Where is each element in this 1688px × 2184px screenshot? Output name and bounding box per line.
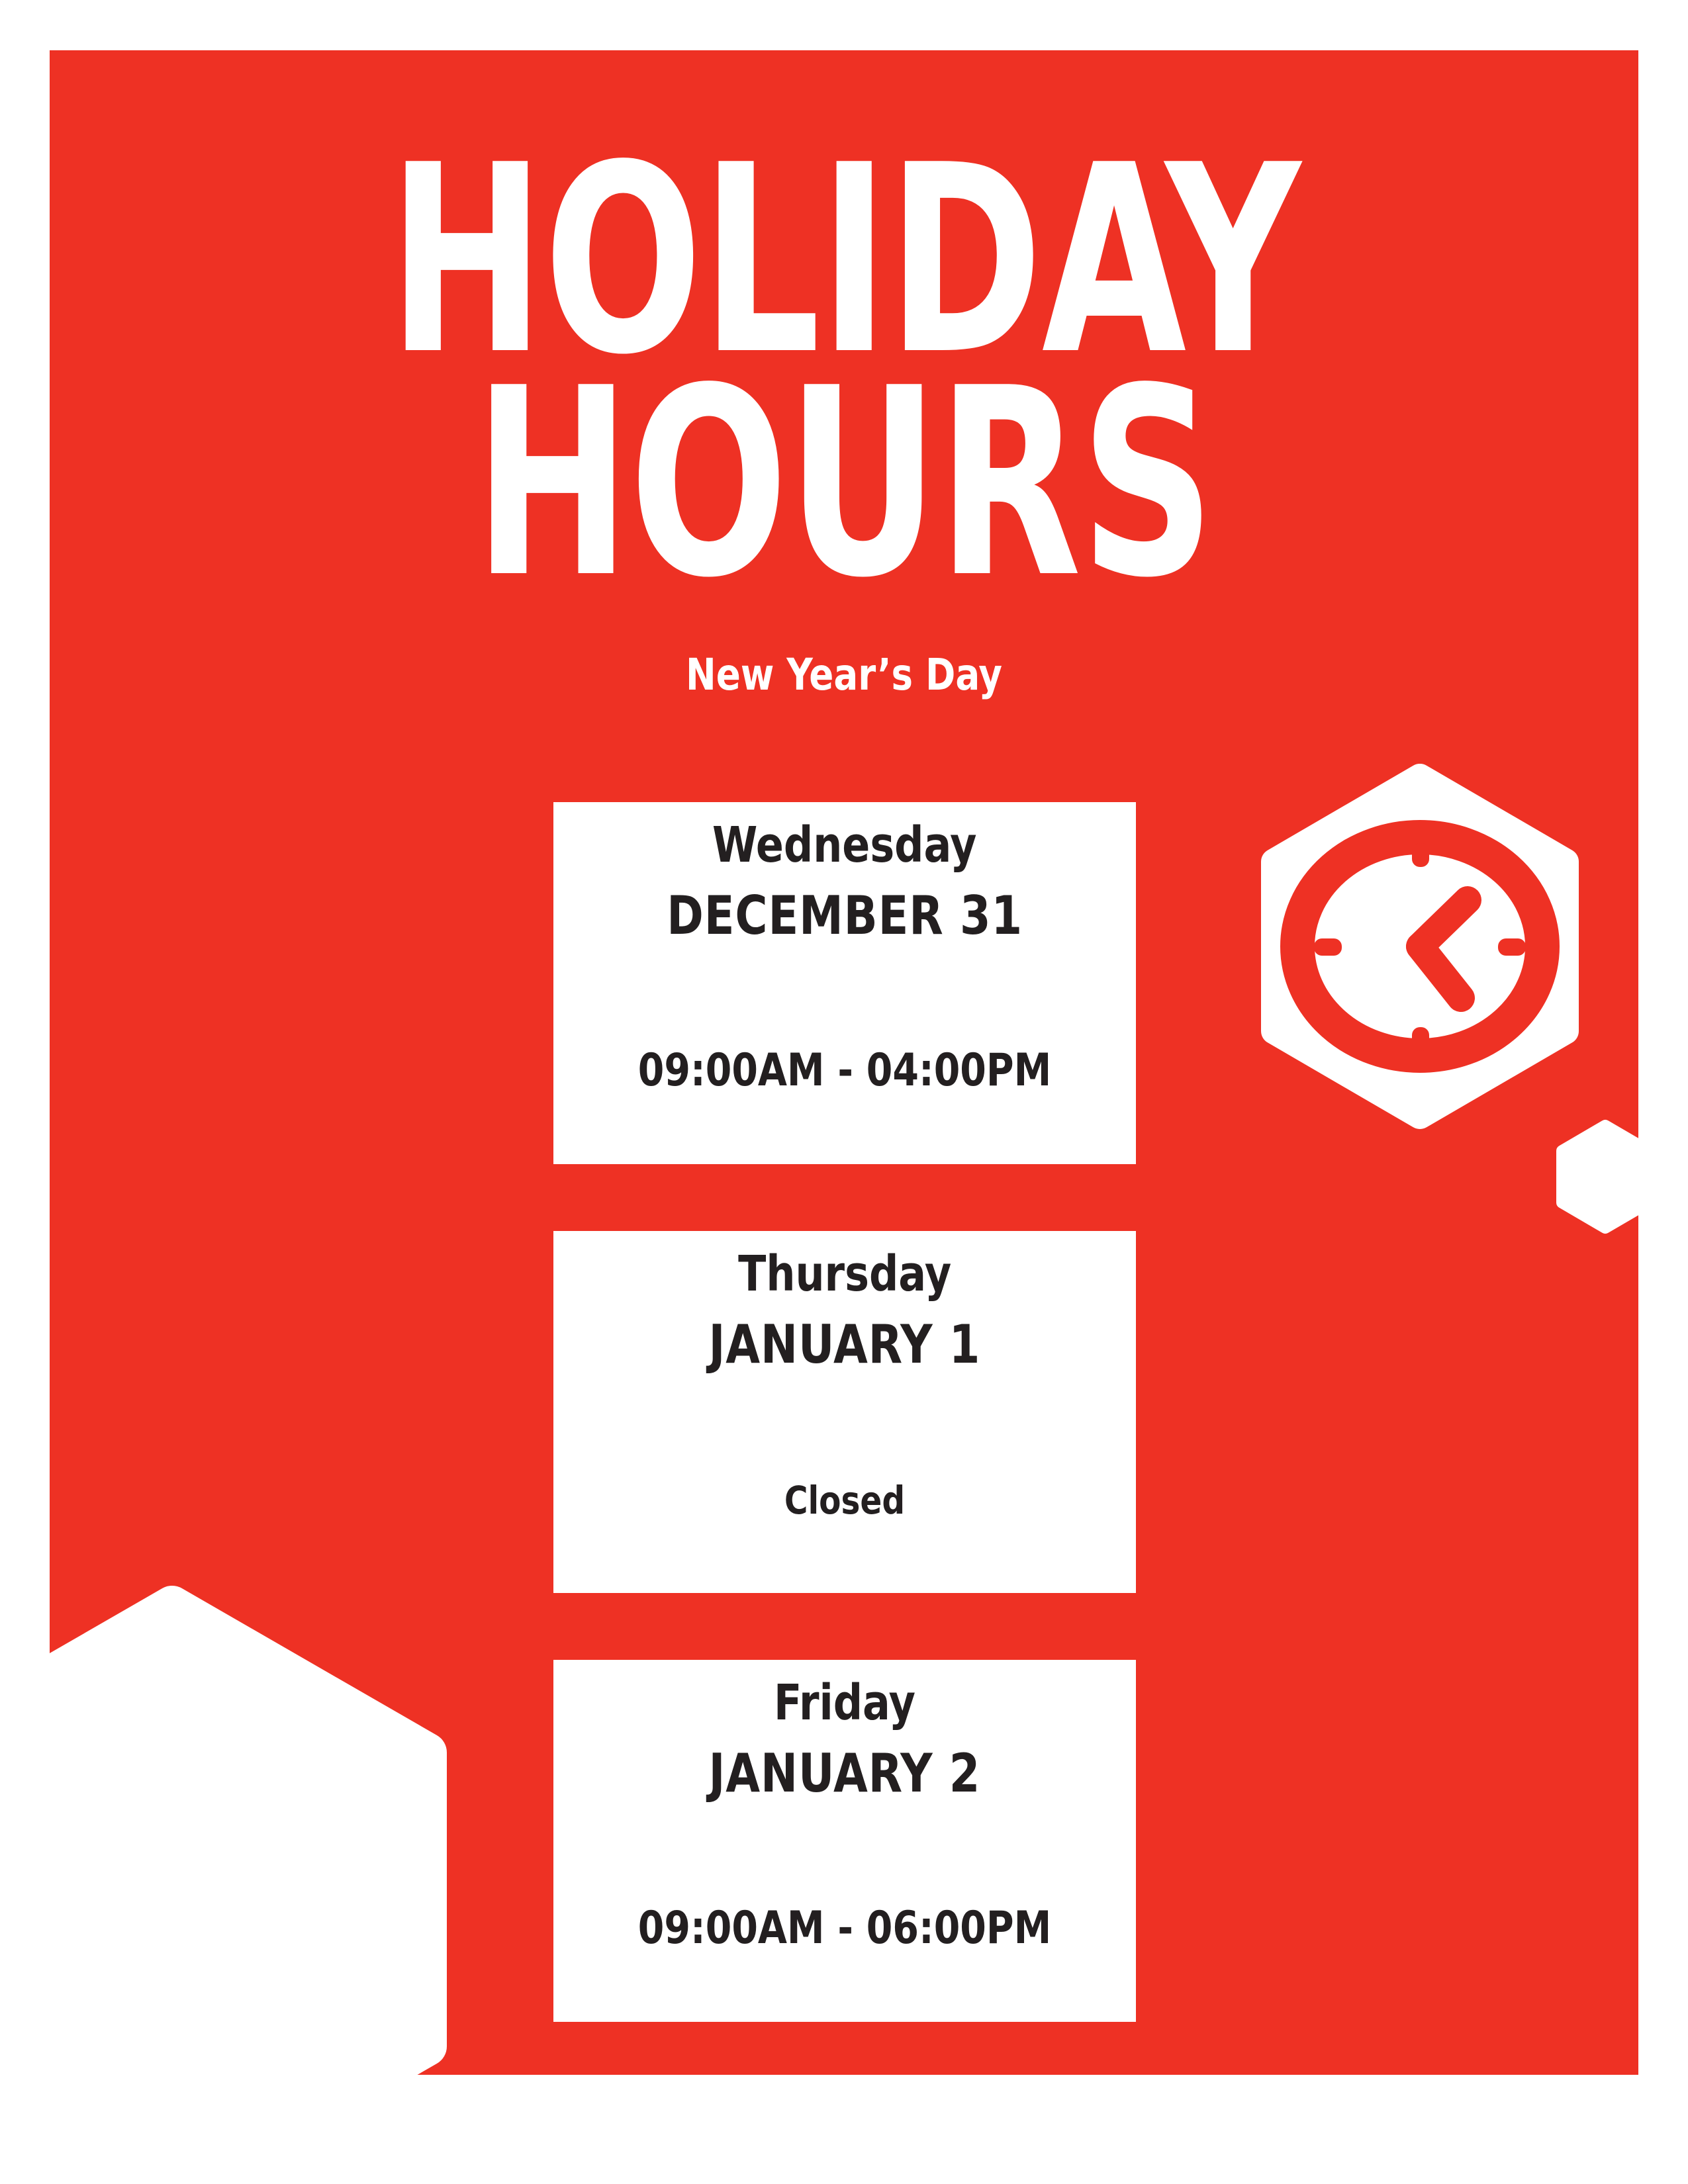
page-subtitle: New Year’s Day — [113, 649, 1575, 700]
card-date: JANUARY 1 — [709, 1318, 981, 1371]
schedule-card: Thursday JANUARY 1 Closed — [553, 1231, 1136, 1593]
hexagon-small-decor — [1542, 1113, 1638, 1255]
red-panel: HOLIDAY HOURS New Year’s Day — [50, 50, 1638, 2075]
card-date: DECEMBER 31 — [667, 889, 1023, 942]
schedule-card: Friday JANUARY 2 09:00AM - 06:00PM — [553, 1660, 1136, 2022]
schedule-card: Wednesday DECEMBER 31 09:00AM - 04:00PM — [553, 802, 1136, 1164]
title-line-2: HOURS — [209, 373, 1479, 596]
card-hours: 09:00AM - 04:00PM — [574, 1048, 1115, 1093]
poster-canvas: HOLIDAY HOURS New Year’s Day — [0, 0, 1688, 2184]
card-day: Wednesday — [712, 821, 976, 870]
card-date: JANUARY 2 — [709, 1747, 981, 1800]
page-title: HOLIDAY HOURS — [50, 150, 1638, 596]
card-hours: Closed — [574, 1481, 1115, 1520]
card-day: Friday — [774, 1678, 915, 1727]
hexagon-large-decor — [50, 1566, 487, 2075]
card-day: Thursday — [738, 1250, 951, 1298]
card-hours: 09:00AM - 06:00PM — [574, 1906, 1115, 1951]
